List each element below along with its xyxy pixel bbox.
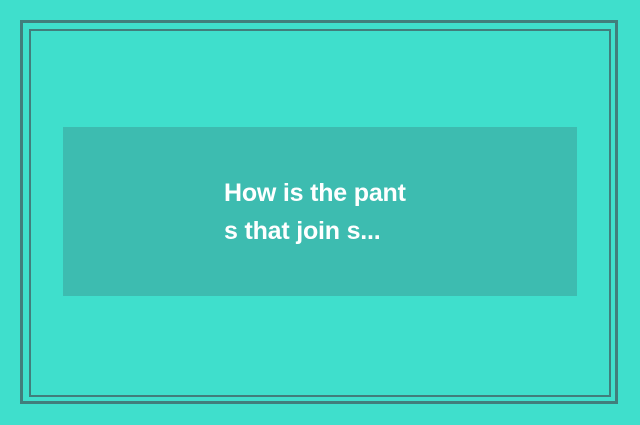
image-card: How is the pant s that join s... [0,0,640,425]
caption-line-1: How is the pant [224,174,577,212]
caption-line-2: s that join s... [224,212,577,250]
caption-panel: How is the pant s that join s... [63,127,577,296]
